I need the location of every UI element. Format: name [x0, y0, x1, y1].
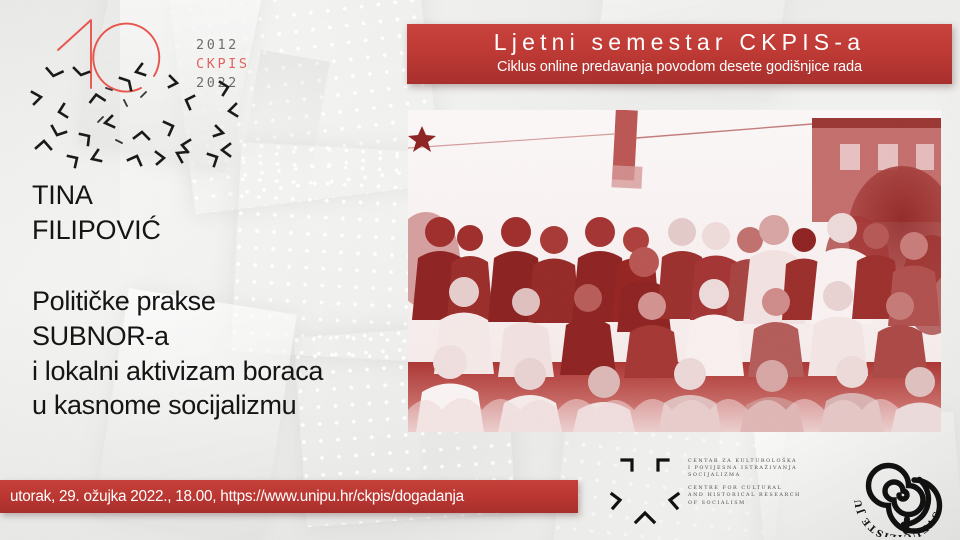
spiral-logo-icon: SVEUČILIŠTE JURJA DOBRILE U PULI [847, 449, 951, 537]
header-subtitle: Ciklus online predavanja povodom desete … [407, 59, 952, 77]
lecture-title-line: Političke prakse [32, 284, 404, 319]
speaker-last-name: FILIPOVIĆ [32, 213, 392, 248]
ten-numeral-icon [44, 14, 194, 94]
header-banner: Ljetni semestar CKPIS-a Ciklus online pr… [407, 24, 952, 84]
event-poster: 2012 CKPIS 2022 [0, 0, 960, 540]
centre-name-hr-line: I POVIJESNA ISTRAŽIVANJA [688, 465, 838, 472]
group-photo-illustration [408, 110, 941, 432]
lecture-title: Političke prakse SUBNOR-a i lokalni akti… [32, 284, 404, 423]
speaker-first-name: TINA [32, 178, 392, 213]
centre-name-en-line: CENTRE FOR CULTURAL [688, 485, 838, 492]
centre-name-hr-line: SOCIJALIZMA [688, 472, 838, 479]
pentagon-brackets-icon [606, 452, 684, 528]
lecture-photo [408, 110, 941, 432]
centre-name-en-line: OF SOCIALISM [688, 500, 838, 507]
lecture-title-line: SUBNOR-a [32, 319, 404, 354]
event-info-text: utorak, 29. ožujka 2022., 18.00, https:/… [0, 488, 464, 506]
centre-name-en-line: AND HISTORICAL RESEARCH [688, 492, 838, 499]
university-logo: SVEUČILIŠTE JURJA DOBRILE U PULI [847, 449, 951, 537]
anniversary-logo: 2012 CKPIS 2022 [44, 14, 249, 94]
centre-name-block: CENTAR ZA KULTUROLOŠKA I POVIJESNA ISTRA… [688, 458, 838, 507]
lecture-title-line: i lokalni aktivizam boraca [32, 354, 404, 389]
event-info-banner[interactable]: utorak, 29. ožujka 2022., 18.00, https:/… [0, 480, 578, 513]
lecture-title-line: u kasnome socijalizmu [32, 388, 404, 423]
ckpis-logo-mark [606, 452, 684, 528]
logo-ckpis-label: CKPIS [196, 58, 250, 72]
logo-year-to: 2022 [196, 77, 239, 91]
header-title: Ljetni semestar CKPIS-a [407, 30, 952, 56]
logo-year-from: 2012 [196, 39, 239, 53]
centre-name-en: CENTRE FOR CULTURAL AND HISTORICAL RESEA… [688, 485, 838, 506]
centre-name-hr: CENTAR ZA KULTUROLOŠKA I POVIJESNA ISTRA… [688, 458, 838, 479]
speaker-name: TINA FILIPOVIĆ [32, 178, 392, 247]
